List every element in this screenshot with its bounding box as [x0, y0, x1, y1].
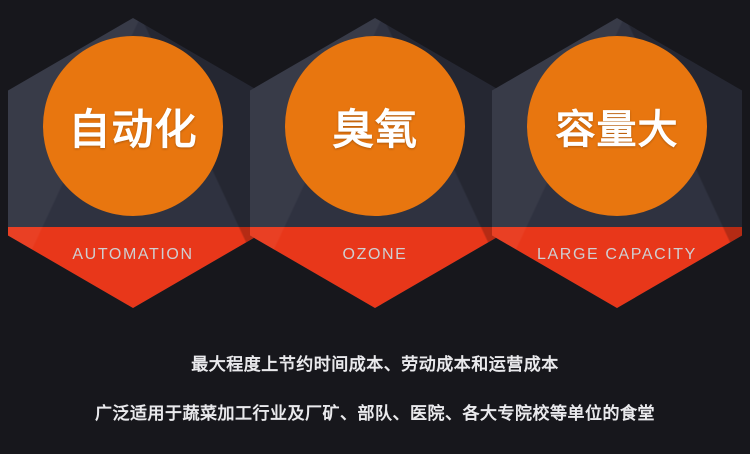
caption-line-2: 广泛适用于蔬菜加工行业及厂矿、部队、医院、各大专院校等单位的食堂: [0, 399, 750, 424]
feature-item-automation[interactable]: 自动化 AUTOMATION: [8, 18, 258, 308]
caption-line-1: 最大程度上节约时间成本、劳动成本和运营成本: [0, 350, 750, 375]
feature-title-en: AUTOMATION: [8, 246, 258, 264]
feature-circle: 自动化: [43, 36, 223, 216]
feature-title-cn: 自动化: [68, 96, 197, 157]
feature-circle: 容量大: [527, 36, 707, 216]
feature-title-cn: 容量大: [556, 97, 679, 155]
feature-title-en: OZONE: [250, 246, 500, 264]
feature-title-en: LARGE CAPACITY: [492, 246, 742, 264]
feature-title-cn: 臭氧: [332, 96, 418, 157]
feature-hexagon-row: 自动化 AUTOMATION 臭氧 OZONE 容量大 LARGE CAPACI…: [0, 18, 750, 318]
feature-circle: 臭氧: [285, 36, 465, 216]
caption-block: 最大程度上节约时间成本、劳动成本和运营成本 广泛适用于蔬菜加工行业及厂矿、部队、…: [0, 350, 750, 424]
feature-item-large-capacity[interactable]: 容量大 LARGE CAPACITY: [492, 18, 742, 308]
promo-banner: 自动化 AUTOMATION 臭氧 OZONE 容量大 LARGE CAPACI…: [0, 0, 750, 454]
feature-item-ozone[interactable]: 臭氧 OZONE: [250, 18, 500, 308]
